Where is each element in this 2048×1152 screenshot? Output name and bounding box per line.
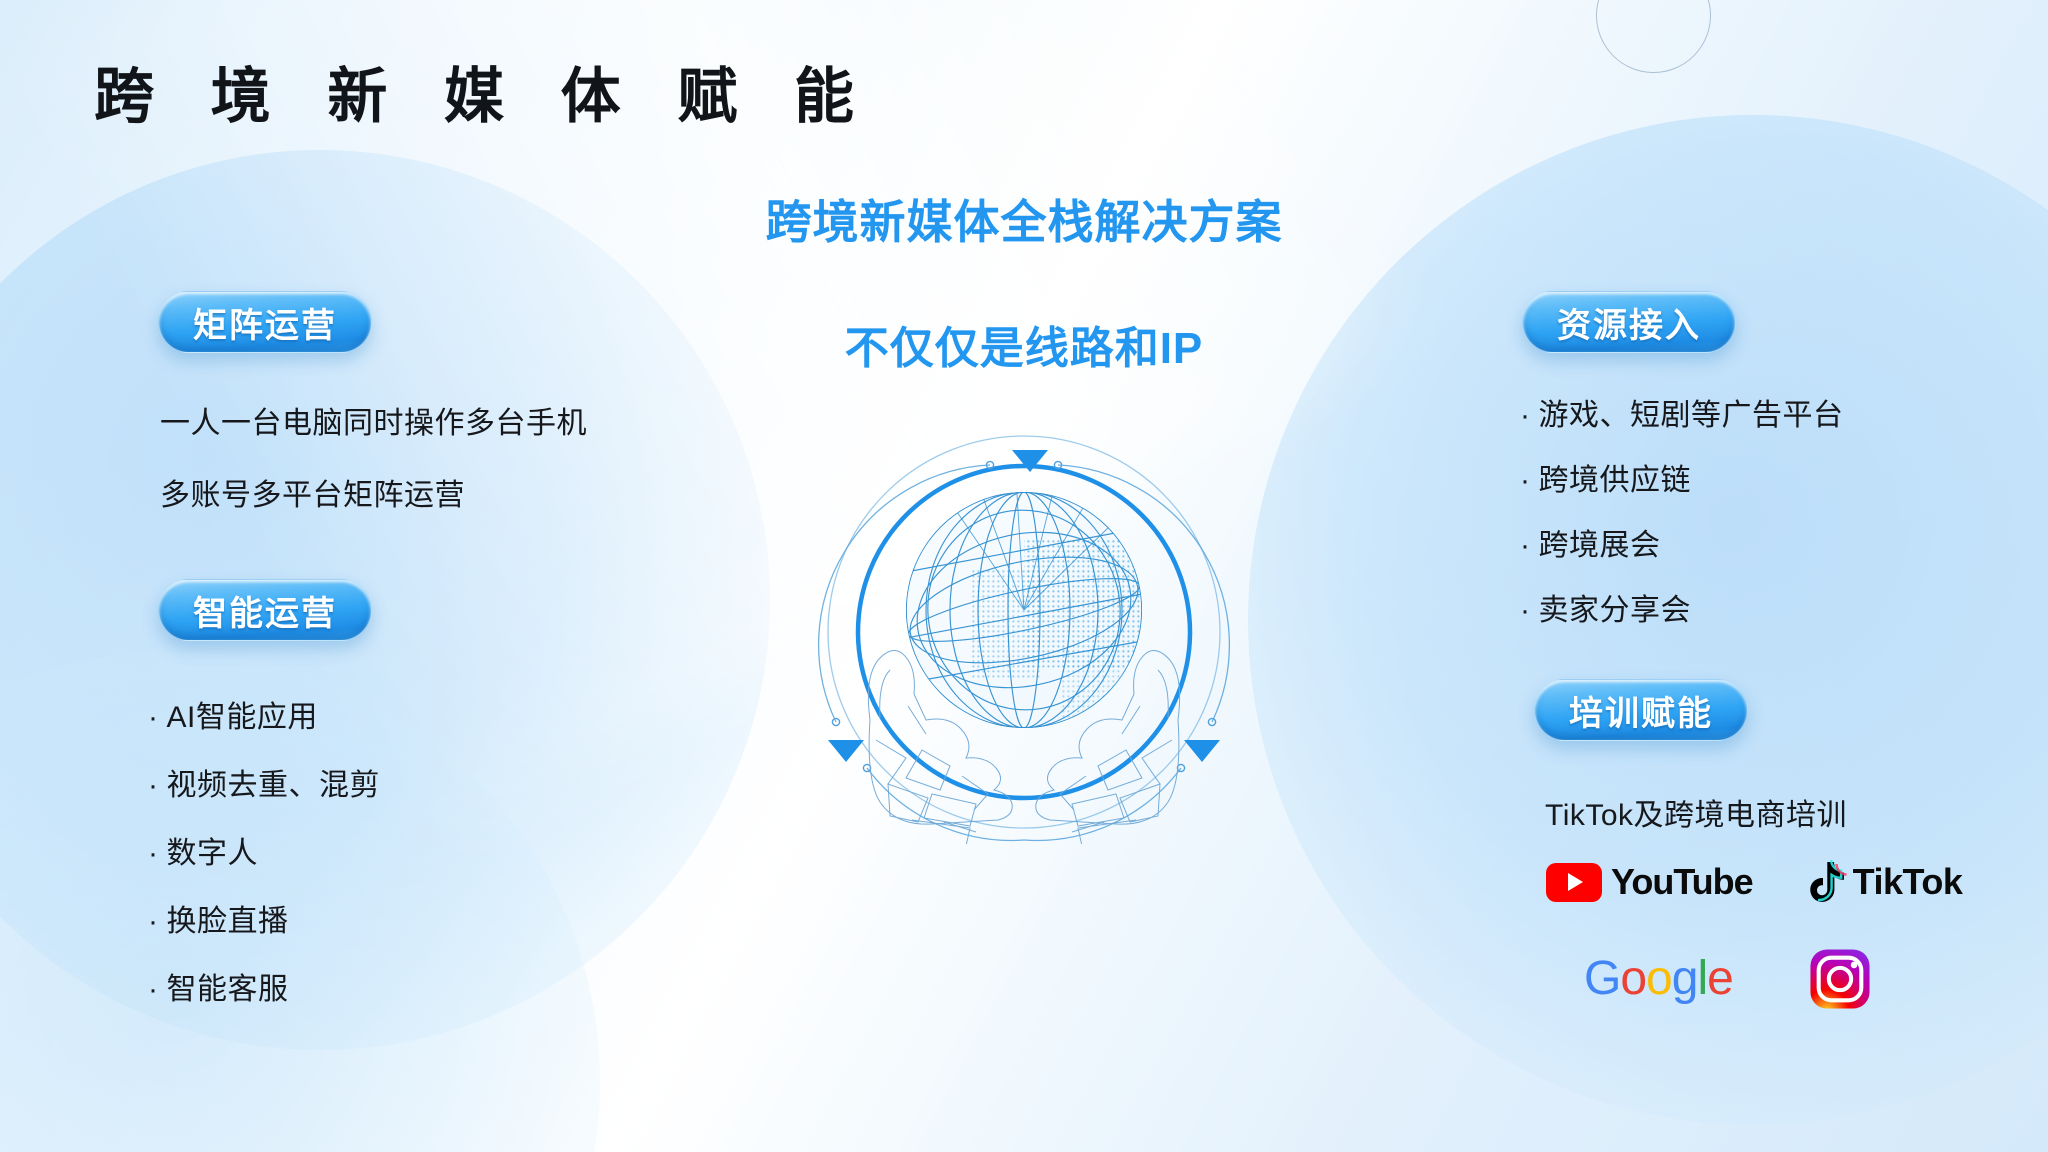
left-s1-item-1: 多账号多平台矩阵运营 — [160, 470, 465, 514]
right-s1-item-0: ·游戏、短剧等广告平台 — [1520, 390, 1844, 434]
bullet-dot: · — [148, 701, 159, 734]
left-s2-item-1: ·视频去重、混剪 — [148, 760, 380, 804]
right-s1-item-1: ·跨境供应链 — [1520, 455, 1691, 499]
background-blob-left — [0, 150, 770, 1050]
heading-primary: 跨境新媒体全栈解决方案 — [766, 186, 1283, 252]
bullet-text: 换脸直播 — [167, 905, 289, 938]
tiktok-label: TikTok — [1853, 861, 1963, 903]
instagram-logo[interactable] — [1809, 948, 1871, 1010]
bullet-dot: · — [1520, 529, 1531, 562]
decorative-circle-icon — [1596, 0, 1711, 73]
pill-matrix-operations[interactable]: 矩阵运营 — [158, 291, 372, 353]
left-s2-item-0: ·AI智能应用 — [148, 692, 318, 736]
tiktok-logo[interactable]: TikTok — [1807, 860, 1963, 904]
bullet-text: AI智能应用 — [167, 701, 318, 734]
slide-canvas: 跨 境 新 媒 体 赋 能 跨境新媒体全栈解决方案 不仅仅是线路和IP 矩阵运营… — [0, 0, 2048, 1152]
right-s1-item-2: ·跨境展会 — [1520, 520, 1661, 564]
pill-resource-access[interactable]: 资源接入 — [1522, 291, 1736, 353]
globe-in-hands-illustration — [812, 420, 1236, 844]
bullet-text: 卖家分享会 — [1539, 594, 1692, 627]
left-s1-item-0: 一人一台电脑同时操作多台手机 — [160, 398, 587, 442]
bullet-text: 智能客服 — [167, 973, 289, 1006]
bullet-dot: · — [1520, 399, 1531, 432]
bullet-text: 数字人 — [167, 837, 259, 870]
youtube-play-icon — [1546, 863, 1602, 902]
right-s1-item-3: ·卖家分享会 — [1520, 585, 1691, 629]
bullet-text: 跨境展会 — [1539, 529, 1661, 562]
platform-logo-grid: YouTube TikTok Google — [1528, 860, 1988, 1010]
bullet-dot: · — [148, 905, 159, 938]
pill-training-empowerment[interactable]: 培训赋能 — [1534, 679, 1748, 741]
bullet-dot: · — [148, 769, 159, 802]
bullet-dot: · — [1520, 594, 1531, 627]
youtube-logo[interactable]: YouTube — [1546, 861, 1753, 903]
pill-smart-operations[interactable]: 智能运营 — [158, 579, 372, 641]
bullet-text: 跨境供应链 — [1539, 464, 1692, 497]
bullet-dot: · — [148, 973, 159, 1006]
left-s2-item-4: ·智能客服 — [148, 964, 289, 1008]
left-s2-item-2: ·数字人 — [148, 828, 258, 872]
bullet-dot: · — [1520, 464, 1531, 497]
youtube-label: YouTube — [1611, 861, 1753, 903]
bullet-text: 视频去重、混剪 — [167, 769, 381, 802]
globe-sphere — [901, 492, 1148, 728]
right-s2-item-0: TikTok及跨境电商培训 — [1545, 790, 1847, 834]
bullet-text: 游戏、短剧等广告平台 — [1539, 399, 1844, 432]
pill-label: 智能运营 — [193, 586, 337, 635]
pill-label: 矩阵运营 — [193, 298, 337, 347]
heading-secondary: 不仅仅是线路和IP — [845, 312, 1204, 376]
bullet-dot: · — [148, 837, 159, 870]
google-logo[interactable]: Google — [1584, 955, 1733, 1003]
pill-label: 培训赋能 — [1569, 686, 1713, 735]
pill-label: 资源接入 — [1557, 298, 1701, 347]
tiktok-note-icon — [1807, 860, 1847, 904]
page-title: 跨 境 新 媒 体 赋 能 — [94, 48, 874, 135]
left-s2-item-3: ·换脸直播 — [148, 896, 289, 940]
